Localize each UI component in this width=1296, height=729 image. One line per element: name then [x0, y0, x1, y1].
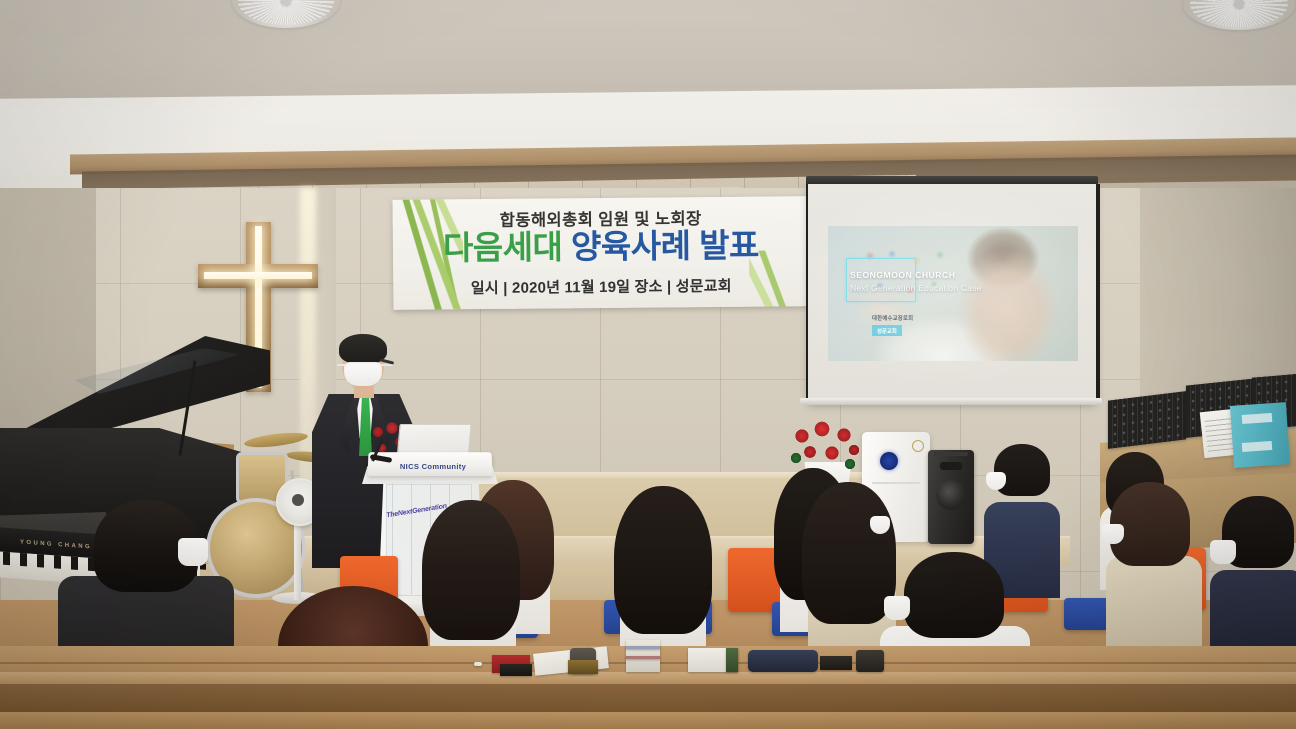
pa-speaker-handle [934, 452, 968, 456]
banner-title-blue: 양육사례 발표 [571, 227, 759, 266]
screen-bottom-bar [800, 398, 1102, 405]
pa-speaker-tweeter [940, 462, 962, 470]
church-presentation-photo: 합동해외총회 임원 및 노회장 다음세대 양육사례 발표 일시 | 2020년 … [0, 0, 1296, 729]
book-spine-band [626, 656, 660, 659]
tissue-box-band [726, 648, 738, 672]
projector-light-haze [808, 184, 1096, 402]
poinsettia-plant [788, 420, 870, 474]
attendee-seated [608, 486, 718, 648]
air-purifier-indicator-icon [880, 452, 898, 470]
attendee-hair [614, 486, 712, 634]
pew-lower-panel [0, 684, 1296, 714]
air-purifier-logo-icon [912, 440, 924, 452]
event-banner: 합동해외총회 임원 및 노회장 다음세대 양육사례 발표 일시 | 2020년 … [393, 196, 810, 310]
banner-title-green: 다음세대 [443, 228, 563, 266]
gold-trim-book [568, 660, 598, 674]
attendee-face-mask [884, 596, 910, 620]
pen [474, 662, 482, 666]
attendee-face-mask [1102, 524, 1124, 544]
black-phone [500, 664, 532, 676]
book-spine-band [626, 646, 660, 649]
presenter-face-mask [344, 362, 382, 386]
dark-tablet-case [856, 650, 884, 672]
attendee-seated [1098, 482, 1208, 642]
podium-front-label: NICS Community [396, 462, 470, 471]
attendee-hair [904, 552, 1004, 638]
banner-main-title: 다음세대 양육사례 발표 [393, 225, 809, 269]
attendee-hair [994, 444, 1050, 496]
dark-pouch [820, 656, 852, 670]
fan-blades-icon [238, 0, 333, 25]
cross-glow-horizontal [204, 272, 312, 279]
attendee-seated [1208, 496, 1296, 668]
attendee-top [1106, 556, 1202, 652]
teal-binder [1230, 402, 1290, 468]
attendee-face-mask [1210, 540, 1236, 564]
fan-blades-icon [1190, 0, 1289, 27]
pew-front-row [0, 712, 1296, 729]
attendee-face-mask [178, 538, 208, 566]
pa-speaker-woofer-icon [936, 480, 966, 510]
banner-date-venue: 일시 | 2020년 11월 19일 장소 | 성문교회 [393, 274, 809, 299]
pedestal-fan-hub-icon [292, 494, 304, 506]
music-stand [1108, 391, 1186, 449]
navy-bag-case [748, 650, 818, 672]
